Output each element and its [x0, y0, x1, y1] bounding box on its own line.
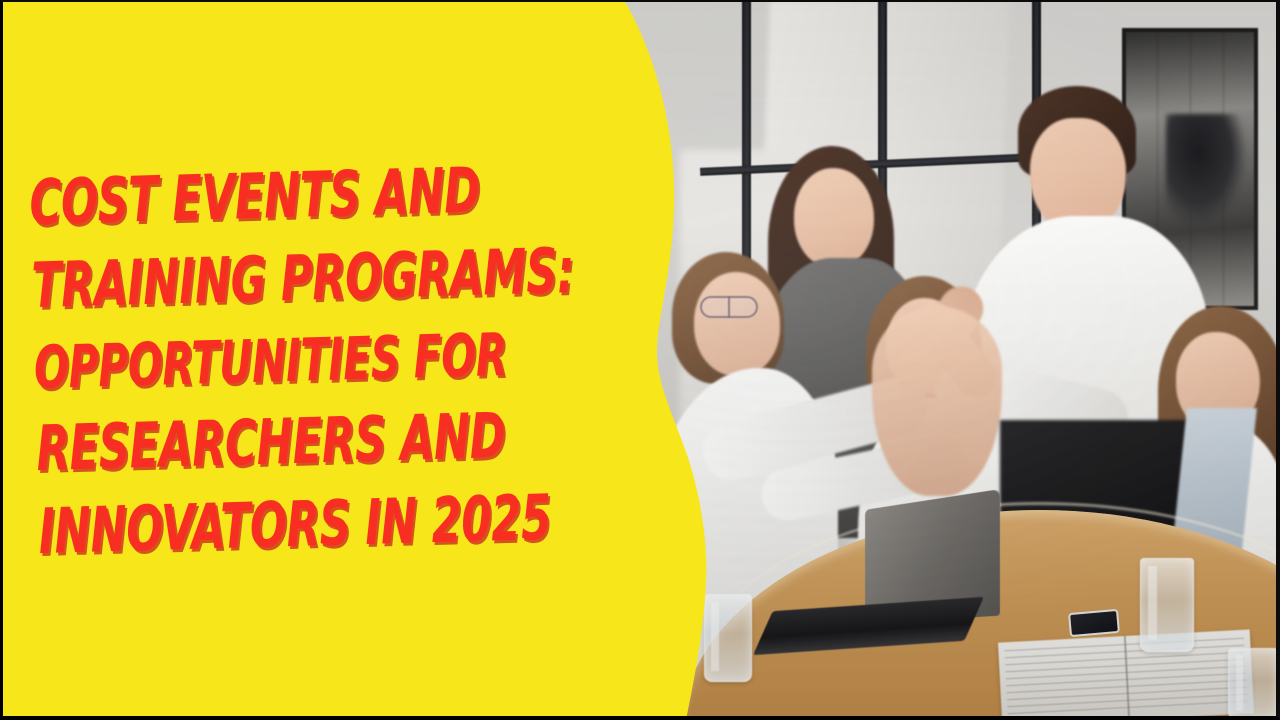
smartphone — [1068, 609, 1120, 637]
headline-block: COST EVENTS AND TRAINING PROGRAMS: OPPOR… — [0, 0, 650, 720]
open-notebook — [998, 629, 1254, 720]
headline-line-4: RESEARCHERS AND — [36, 405, 507, 481]
headline-line-2: TRAINING PROGRAMS: — [31, 242, 502, 318]
person-face — [794, 168, 874, 268]
wall-art-ink-blot — [1166, 114, 1246, 226]
eyeglasses-icon — [700, 296, 758, 318]
water-glass — [704, 594, 752, 682]
water-glass — [1228, 648, 1278, 720]
headline-line-5: INNOVATORS IN 2025 — [38, 488, 509, 564]
high-five-hand-stack — [872, 306, 1002, 496]
headline-line-1: COST EVENTS AND — [29, 159, 500, 235]
person-face — [694, 272, 780, 376]
notebook-ruled-lines — [1004, 638, 1247, 718]
banner-root: COST EVENTS AND TRAINING PROGRAMS: OPPOR… — [0, 0, 1280, 720]
water-glass — [1140, 558, 1194, 652]
headline-line-3: OPPORTUNITIES FOR — [33, 325, 504, 397]
